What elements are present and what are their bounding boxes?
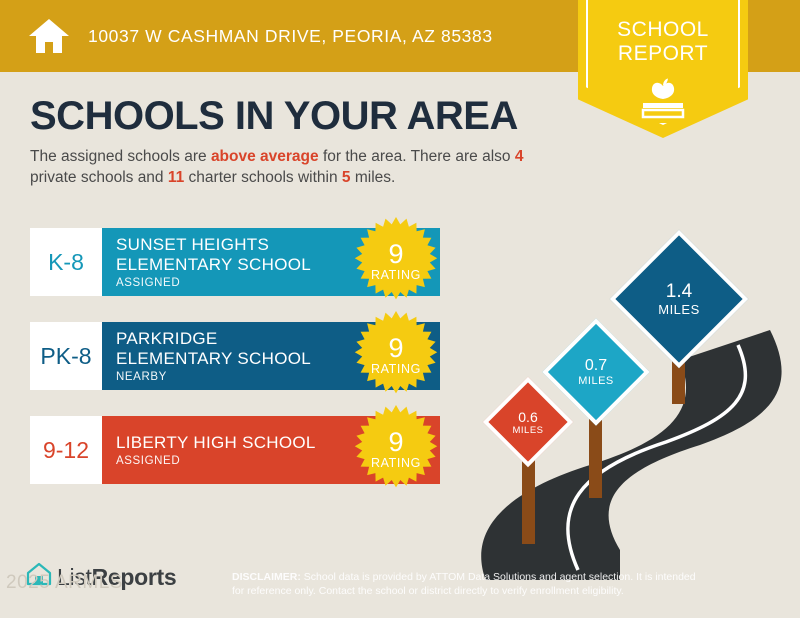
subtitle-part-2: for the area. There are also bbox=[319, 148, 515, 165]
rating-badge: 9 RATING bbox=[350, 310, 442, 402]
distance-value: 1.4 bbox=[666, 281, 692, 302]
distance-unit: MILES bbox=[658, 302, 700, 317]
rating-label: RATING bbox=[350, 456, 442, 470]
grade-badge: 9-12 bbox=[30, 416, 102, 484]
grade-badge: PK-8 bbox=[30, 322, 102, 390]
subtitle-part-1: The assigned schools are bbox=[30, 148, 211, 165]
shield-title: SCHOOL REPORT bbox=[578, 18, 748, 66]
distance-unit: MILES bbox=[512, 425, 543, 436]
rating-value: 9 bbox=[350, 239, 442, 270]
page-title: SCHOOLS IN YOUR AREA bbox=[30, 94, 518, 139]
subtitle-highlight-charter-count: 11 bbox=[168, 169, 184, 186]
subtitle-part-5: miles. bbox=[351, 169, 396, 186]
shield-icons bbox=[578, 76, 748, 125]
subtitle-highlight-rating: above average bbox=[211, 148, 319, 165]
page-subtitle: The assigned schools are above average f… bbox=[30, 146, 570, 188]
distance-value: 0.6 bbox=[518, 409, 537, 425]
rating-value: 9 bbox=[350, 427, 442, 458]
grade-badge: K-8 bbox=[30, 228, 102, 296]
apple-icon bbox=[578, 76, 748, 125]
armls-watermark: 2025 ARMLS bbox=[6, 572, 123, 594]
rating-label: RATING bbox=[350, 362, 442, 376]
distance-sign-text: 1.4 MILES bbox=[634, 254, 724, 344]
rating-label: RATING bbox=[350, 268, 442, 282]
rating-value: 9 bbox=[350, 333, 442, 364]
subtitle-highlight-radius: 5 bbox=[342, 169, 351, 186]
road-illustration: 1.4 MILES 0.7 MILES 0.6 MILES bbox=[470, 250, 800, 580]
distance-value: 0.7 bbox=[585, 357, 607, 375]
distance-unit: MILES bbox=[578, 375, 614, 387]
distance-sign-text: 0.6 MILES bbox=[500, 394, 556, 450]
shield-title-line1: SCHOOL bbox=[578, 18, 748, 42]
shield-title-line2: REPORT bbox=[578, 42, 748, 66]
subtitle-part-3: private schools and bbox=[30, 169, 168, 186]
disclaimer-label: DISCLAIMER: bbox=[232, 571, 301, 583]
subtitle-highlight-private-count: 4 bbox=[515, 148, 524, 165]
house-icon bbox=[28, 17, 70, 55]
distance-sign-text: 0.7 MILES bbox=[562, 338, 630, 406]
school-report-infographic: 10037 W CASHMAN DRIVE, PEORIA, AZ 85383 … bbox=[0, 0, 800, 618]
property-address: 10037 W CASHMAN DRIVE, PEORIA, AZ 85383 bbox=[88, 26, 493, 47]
disclaimer-body: School data is provided by ATTOM Data So… bbox=[232, 571, 696, 597]
disclaimer-text: DISCLAIMER: School data is provided by A… bbox=[232, 570, 702, 598]
rating-badge: 9 RATING bbox=[350, 216, 442, 308]
rating-badge: 9 RATING bbox=[350, 404, 442, 496]
subtitle-part-4: charter schools within bbox=[184, 169, 342, 186]
